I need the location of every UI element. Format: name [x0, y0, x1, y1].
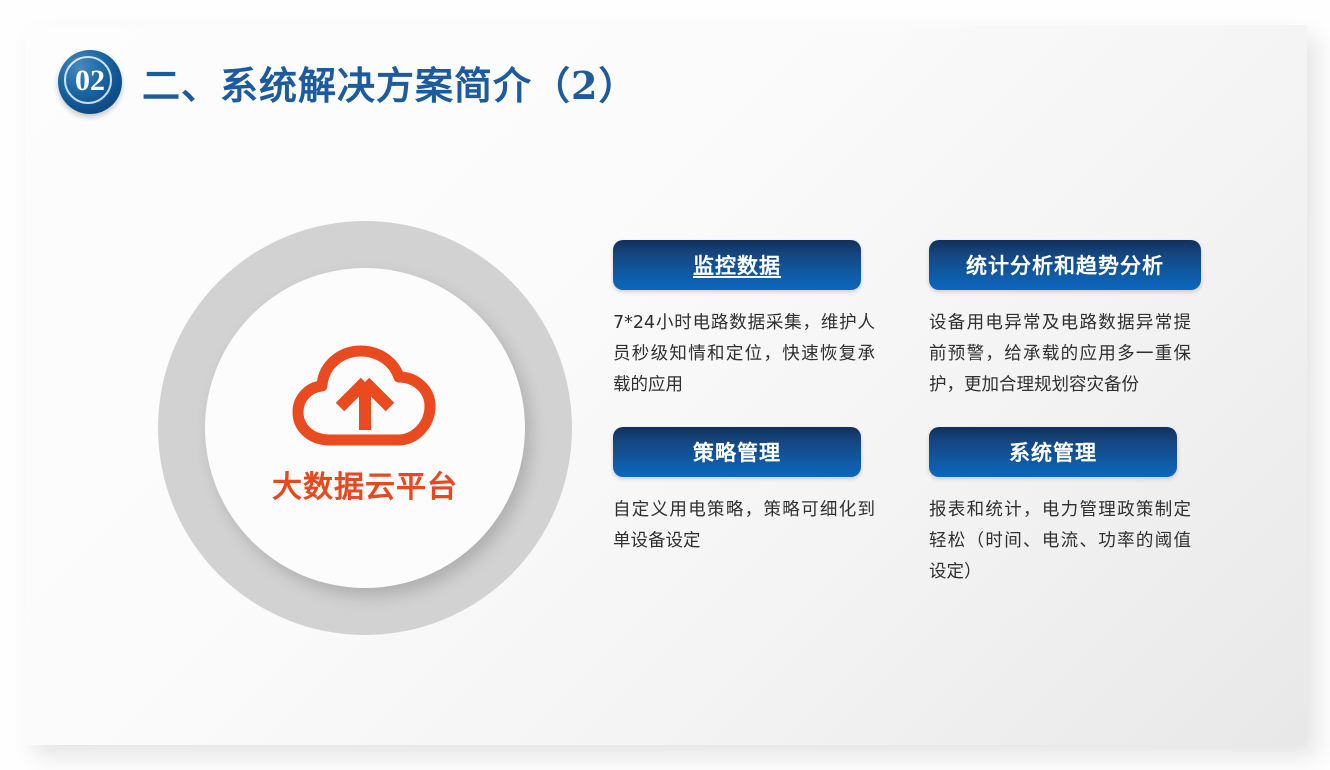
card-title: 策略管理: [693, 437, 781, 467]
feature-card-grid: 监控数据 7*24小时电路数据采集，维护人员秒级知情和定位，快速恢复承载的应用 …: [613, 240, 1273, 710]
card-header-policy[interactable]: 策略管理: [613, 427, 861, 477]
slide-canvas: 02 二、系统解决方案简介（2） 大数据云平台 监控数据 7*24小时电路数据采…: [25, 25, 1307, 745]
card-title: 系统管理: [1009, 437, 1097, 467]
card-description: 自定义用电策略，策略可细化到单设备设定: [613, 495, 875, 557]
badge-number: 02: [75, 66, 105, 98]
page-title: 二、系统解决方案简介（2）: [142, 55, 637, 110]
section-number-badge: 02: [58, 50, 122, 114]
feature-card-system[interactable]: 系统管理 报表和统计，电力管理政策制定轻松（时间、电流、功率的阈值设定）: [929, 427, 1221, 588]
cloud-upload-icon: [292, 344, 438, 448]
card-header-system[interactable]: 系统管理: [929, 427, 1177, 477]
card-description: 设备用电异常及电路数据异常提前预警，给承载的应用多一重保护，更加合理规划容灾备份: [929, 308, 1191, 401]
feature-card-analysis[interactable]: 统计分析和趋势分析 设备用电异常及电路数据异常提前预警，给承载的应用多一重保护，…: [929, 240, 1221, 401]
card-description: 报表和统计，电力管理政策制定轻松（时间、电流、功率的阈值设定）: [929, 495, 1191, 588]
card-description: 7*24小时电路数据采集，维护人员秒级知情和定位，快速恢复承载的应用: [613, 308, 875, 401]
card-header-analysis[interactable]: 统计分析和趋势分析: [929, 240, 1201, 290]
card-title: 统计分析和趋势分析: [966, 250, 1164, 280]
card-header-monitoring[interactable]: 监控数据: [613, 240, 861, 290]
platform-circle-graphic: 大数据云平台: [130, 193, 600, 663]
card-title: 监控数据: [693, 250, 781, 280]
feature-card-monitoring[interactable]: 监控数据 7*24小时电路数据采集，维护人员秒级知情和定位，快速恢复承载的应用: [613, 240, 905, 401]
feature-card-policy[interactable]: 策略管理 自定义用电策略，策略可细化到单设备设定: [613, 427, 905, 588]
platform-content: 大数据云平台: [205, 268, 525, 588]
platform-label: 大数据云平台: [272, 462, 458, 506]
screenshot-root: 02 二、系统解决方案简介（2） 大数据云平台 监控数据 7*24小时电路数据采…: [0, 0, 1330, 770]
